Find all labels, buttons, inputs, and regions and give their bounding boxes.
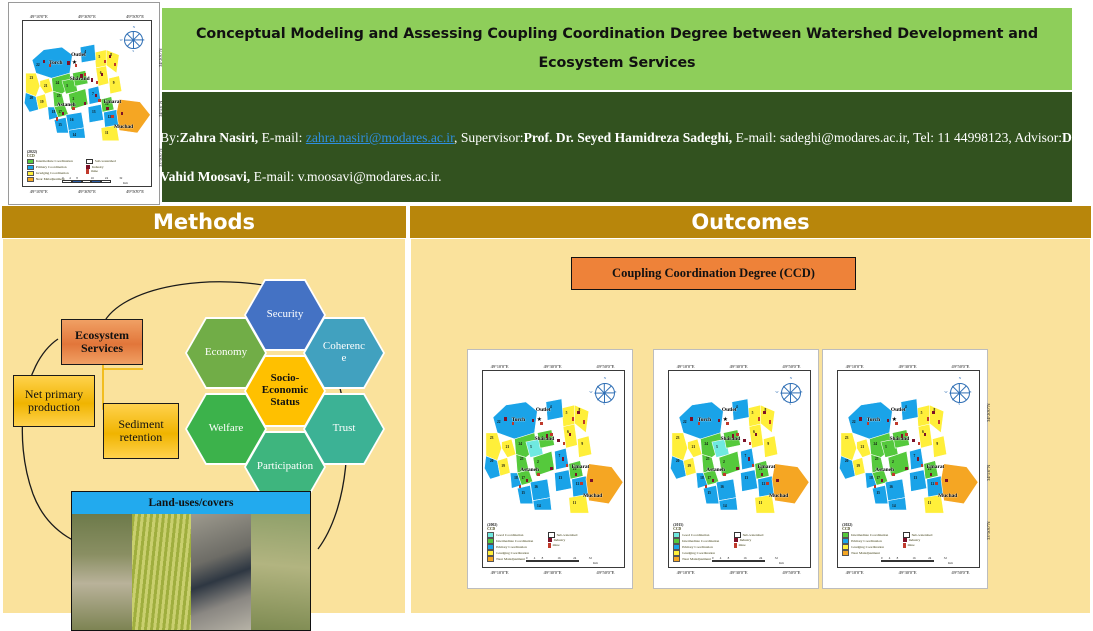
mine-point: [921, 464, 923, 467]
map-frame: 2223201921242518173127654891013161514121…: [22, 20, 152, 187]
legend-row: Grudging Coordination: [27, 171, 73, 176]
lon-tick-bottom: 49°50'0"E: [782, 570, 800, 575]
legend-row: Industry: [903, 538, 933, 542]
sub-watershed-number: 19: [856, 464, 860, 468]
lon-tick-bottom: 49°50'0"E: [596, 570, 614, 575]
box-net-primary-production-label: Net primary production: [25, 388, 83, 415]
scale-tick: 8: [76, 176, 78, 180]
sub-watershed-number: 25: [706, 457, 710, 461]
industry-point: [526, 479, 528, 482]
place-label: Sharand: [889, 436, 909, 442]
industry-point: [575, 473, 577, 476]
mine-point: [512, 422, 514, 425]
mine-point: [49, 64, 51, 67]
sub-watershed-number: 23: [30, 76, 34, 80]
scale-tick: 16: [912, 556, 915, 560]
lon-tick-bottom: 49°10'0"E: [491, 570, 509, 575]
mine-point: [895, 422, 897, 425]
lon-tick-top: 49°50'0"E: [596, 364, 614, 369]
sub-watershed-number: 11: [759, 501, 762, 505]
mine-icon: [548, 543, 551, 548]
ccd-box[interactable]: Coupling Coordination Degree (CCD): [571, 257, 856, 290]
legend-swatch: [842, 538, 849, 543]
sub-watershed-icon: [548, 532, 555, 537]
industry-point: [43, 60, 45, 63]
industry-point: [881, 479, 883, 482]
sub-watershed-number: 15: [58, 123, 62, 127]
scale-tick: 4: [69, 176, 71, 180]
sub-watershed-number: 12: [762, 482, 766, 486]
scale-tick: 16: [743, 556, 746, 560]
lon-tick-bottom: 49°30'0"E: [543, 570, 561, 575]
mine-point: [705, 485, 707, 488]
sub-watershed-number: 5: [99, 55, 101, 59]
location-map: 49°10'0"E49°10'0"E49°30'0"E49°30'0"E49°5…: [8, 2, 160, 205]
industry-point: [887, 419, 889, 422]
sub-watershed-number: 24: [873, 442, 877, 446]
sub-watershed-number: 20: [490, 459, 494, 463]
legend-label: Primary Coordination: [496, 545, 527, 549]
by-label: By:: [160, 130, 180, 145]
place-label: Astaneh: [520, 467, 539, 473]
sub-watershed-number: 2: [892, 460, 894, 464]
methods-header: Methods: [2, 206, 406, 238]
place-label: Astaneh: [706, 467, 725, 473]
scale-tick: 32: [119, 176, 122, 180]
supervisor-email: sadeghi@modares.ac.ir,: [780, 130, 910, 145]
mine-point: [752, 464, 754, 467]
sub-watershed-number: 2: [723, 460, 725, 464]
industry-point: [562, 457, 564, 460]
scale-tick: 32: [944, 556, 947, 560]
box-sediment-retention-label: Sediment retention: [118, 418, 163, 445]
map-legend: (2015)CCDGood CoordinationIntermediate C…: [673, 523, 807, 562]
legend-label: Near Maladjustment: [496, 557, 525, 561]
scale-tick: 8: [897, 556, 899, 560]
mine-point: [766, 482, 768, 485]
scale-tick: 0: [62, 176, 64, 180]
box-ecosystem-services-label: Ecosystem Services: [75, 329, 129, 356]
legend-label: Intermediate Coordination: [682, 539, 719, 543]
sub-watershed-number: 18: [700, 476, 704, 480]
industry-point: [924, 433, 926, 436]
sub-watershed-number: 9: [767, 442, 769, 446]
sub-watershed-number: 19: [501, 464, 505, 468]
legend-swatch: [842, 544, 849, 549]
sub-watershed-number: 13: [559, 476, 563, 480]
outcome-map-2015: 49°10'0"E49°10'0"E49°30'0"E49°30'0"E49°5…: [653, 349, 819, 589]
legend-row: Intermediate Coordination: [842, 532, 888, 537]
legend-label: Industry: [909, 538, 921, 542]
industry-point: [67, 61, 69, 64]
legend-label: Primary Coordination: [851, 539, 882, 543]
legend-label: Near Maladjustment: [36, 177, 65, 181]
legend-label: Intermediate Coordination: [36, 159, 73, 163]
industry-point: [917, 457, 919, 460]
sub-watershed-number: 16: [534, 485, 538, 489]
sub-watershed-number: 23: [490, 436, 494, 440]
outcomes-section: Outcomes Coupling Coordination Degree (C…: [410, 206, 1091, 616]
mine-point: [583, 420, 585, 423]
hex-coherence-label: Coherenc e: [323, 341, 365, 365]
outcome-map-2002: 49°10'0"E49°10'0"E49°30'0"E49°30'0"E49°5…: [467, 349, 633, 589]
mine-point: [874, 485, 876, 488]
industry-point: [712, 479, 714, 482]
landuse-caption: Land-uses/covers: [72, 492, 310, 514]
methods-body: Ecosystem Services Net primary productio…: [2, 238, 406, 614]
legend-swatch: [842, 550, 849, 555]
legend-swatch: [673, 538, 680, 543]
legend-label: mine: [908, 543, 915, 547]
industry-point: [80, 74, 82, 77]
lat-tick: 34°20'0"N: [158, 48, 163, 66]
industry-point: [743, 439, 745, 442]
sub-watershed-number: 25: [520, 457, 524, 461]
mine-point: [938, 420, 940, 423]
place-label: Emarat: [572, 464, 590, 470]
sub-watershed-number: 25: [875, 457, 879, 461]
mine-point: [749, 442, 751, 445]
scale-tick: 32: [775, 556, 778, 560]
legend-label: Near Maladjustment: [851, 551, 880, 555]
legend-swatch: [842, 532, 849, 537]
scale-tick: 16: [91, 176, 94, 180]
place-label: Sharand: [720, 436, 740, 442]
sub-watershed-number: 14: [892, 504, 896, 508]
legend-row: Industry: [548, 538, 578, 542]
tel-label: Tel:: [913, 130, 934, 145]
hex-participation-label: Participation: [257, 461, 313, 473]
legend-row: mine: [734, 543, 764, 548]
sub-watershed-number: 21: [506, 445, 510, 449]
lon-tick-top: 49°10'0"E: [491, 364, 509, 369]
sub-watershed-number: 20: [845, 459, 849, 463]
legend-row: mine: [86, 169, 116, 174]
industry-point: [121, 112, 123, 115]
sub-watershed-number: 16: [889, 485, 893, 489]
scale-bar: 048162432Km: [881, 560, 935, 562]
sub-watershed-number: 22: [852, 420, 856, 424]
industry-point: [901, 434, 903, 437]
sub-watershed-number: 19: [40, 100, 44, 104]
sub-watershed-number: 5: [752, 411, 754, 415]
legend-swatch: [487, 556, 494, 561]
box-net-primary-production[interactable]: Net primary production: [13, 375, 95, 427]
legend-label: Grudging Coordination: [682, 551, 715, 555]
landuse-photo-cropland: [132, 514, 192, 630]
hex-welfare-label: Welfare: [209, 423, 244, 435]
place-label: Muchad: [114, 124, 133, 130]
legend-title: CCD: [673, 527, 807, 531]
sub-watershed-number: 18: [52, 110, 56, 114]
industry-point: [577, 411, 579, 414]
legend-label: mine: [91, 169, 98, 173]
legend-label: Industry: [92, 165, 104, 169]
outcome-map-2022: 49°10'0"E49°10'0"E49°30'0"E49°30'0"E49°5…: [822, 349, 988, 589]
advisor-label: Advisor:: [1014, 130, 1062, 145]
mine-point: [758, 417, 760, 420]
poster-canvas: Conceptual Modeling and Assessing Coupli…: [0, 0, 1093, 618]
scale-tick: 8: [728, 556, 730, 560]
place-label: Outlet: [891, 407, 906, 413]
lon-tick-top: 49°30'0"E: [729, 364, 747, 369]
sub-watershed-icon: [86, 159, 93, 164]
landuse-photo-strip: [72, 514, 310, 630]
supervisor-email-label: E-mail:: [736, 130, 777, 145]
mine-point: [111, 115, 113, 118]
sub-watershed-number: 16: [70, 118, 74, 122]
mine-icon: [86, 169, 89, 174]
advisor-email-label: E-mail:: [254, 169, 295, 184]
box-ecosystem-services[interactable]: Ecosystem Services: [61, 319, 143, 365]
map-legend: (2022)CCDIntermediate CoordinationPrimar…: [27, 150, 149, 183]
sub-watershed-number: 5: [566, 411, 568, 415]
legend-row: Sub-watershed: [86, 159, 116, 164]
legend-label: mine: [739, 543, 746, 547]
mine-point: [918, 442, 920, 445]
industry-point: [101, 73, 103, 76]
sub-watershed-number: 11: [105, 131, 108, 135]
mine-point: [935, 482, 937, 485]
place-label: Outlet: [722, 407, 737, 413]
mine-point: [75, 64, 77, 67]
legend-label: Sub-watershed: [557, 533, 578, 537]
sub-watershed-number: 21: [692, 445, 696, 449]
lat-tick: 33°50'0"N: [986, 522, 991, 540]
tel-value: 11 44998123,: [937, 130, 1011, 145]
mine-point: [550, 433, 552, 436]
hex-economy-label: Economy: [205, 347, 247, 359]
industry-point: [84, 102, 86, 105]
mine-point: [892, 473, 894, 476]
lon-tick-top: 49°50'0"E: [126, 14, 144, 19]
lon-tick-bottom: 49°50'0"E: [951, 570, 969, 575]
mine-point: [56, 117, 58, 120]
scale-tick: 0: [712, 556, 714, 560]
legend-title: CCD: [487, 527, 621, 531]
lon-tick-bottom: 49°30'0"E: [78, 189, 96, 194]
sub-watershed-number: 7: [559, 454, 561, 458]
sub-watershed-number: 16: [720, 485, 724, 489]
scale-unit: Km: [123, 181, 128, 185]
sub-watershed-icon: [734, 532, 741, 537]
sub-watershed-number: 20: [676, 459, 680, 463]
legend-row: Primary Coordination: [842, 538, 888, 543]
industry-icon: [903, 538, 907, 542]
scale-bar: 048162432Km: [526, 560, 580, 562]
legend-label: mine: [553, 543, 560, 547]
mine-point: [104, 60, 106, 63]
lat-tick: 34°5'0"N: [158, 101, 163, 117]
sub-watershed-number: 24: [56, 81, 60, 85]
legend-row: Intermediate Coordination: [673, 538, 719, 543]
legend-row: Sub-watershed: [903, 532, 933, 537]
scale-bar: 048162432Km: [62, 180, 111, 182]
legend-title: CCD: [842, 527, 976, 531]
sub-watershed-number: 2: [537, 460, 539, 464]
sub-watershed-number: 25: [57, 94, 61, 98]
compass-rose-icon: NESW: [950, 383, 970, 403]
sub-watershed-number: 22: [497, 420, 501, 424]
sub-watershed-number: 23: [845, 436, 849, 440]
legend-row: Good Coordination: [673, 532, 719, 537]
sub-watershed-number: 13: [914, 476, 918, 480]
legend-label: Intermediate Coordination: [851, 533, 888, 537]
place-label: Muchad: [769, 493, 788, 499]
sub-watershed-number: 20: [30, 96, 34, 100]
sub-watershed-number: 13: [745, 476, 749, 480]
legend-swatch: [487, 550, 494, 555]
author-email-link[interactable]: zahra.nasiri@modares.ac.ir: [306, 130, 454, 145]
place-label: Outlet: [71, 52, 86, 58]
lon-tick-top: 49°30'0"E: [78, 14, 96, 19]
lon-tick-top: 49°30'0"E: [898, 364, 916, 369]
lon-tick-bottom: 49°50'0"E: [126, 189, 144, 194]
lon-tick-bottom: 49°10'0"E: [677, 570, 695, 575]
outcomes-header: Outcomes: [410, 206, 1091, 238]
scale-tick: 0: [881, 556, 883, 560]
sub-watershed-number: 19: [687, 464, 691, 468]
legend-swatch: [27, 165, 34, 170]
industry-point: [718, 419, 720, 422]
industry-icon: [548, 538, 552, 542]
scale-tick: 24: [105, 176, 108, 180]
author-email-comma: ,: [454, 130, 457, 145]
sub-watershed-number: 2: [73, 97, 75, 101]
legend-row: Primary Coordination: [673, 544, 719, 549]
supervisor-name: Prof. Dr. Seyed Hamidreza Sadeghi,: [524, 130, 733, 145]
industry-point: [109, 55, 111, 58]
legend-swatch: [673, 532, 680, 537]
sub-watershed-icon: [903, 532, 910, 537]
legend-label: Primary Coordination: [36, 165, 67, 169]
scale-tick: 24: [928, 556, 931, 560]
mine-point: [580, 482, 582, 485]
sub-watershed-number: 7: [914, 454, 916, 458]
industry-point: [546, 434, 548, 437]
sub-watershed-number: 3: [716, 445, 718, 449]
legend-label: Good Coordination: [496, 533, 523, 537]
lat-tick: 33°50'0"N: [158, 148, 163, 166]
authors-text: By:Zahra Nasiri, E-mail: zahra.nasiri@mo…: [152, 118, 1088, 197]
industry-point: [748, 457, 750, 460]
industry-point: [95, 94, 97, 97]
legend-swatch: [27, 159, 34, 164]
industry-point: [761, 473, 763, 476]
mine-point: [72, 107, 74, 110]
sub-watershed-number: 17: [707, 476, 711, 480]
author-email-label: E-mail:: [262, 130, 303, 145]
legend-swatch: [27, 177, 34, 182]
sub-watershed-number: 18: [514, 476, 518, 480]
mine-point: [96, 81, 98, 84]
mine-point: [726, 422, 728, 425]
industry-point: [62, 112, 64, 115]
sub-watershed-number: 21: [44, 84, 48, 88]
legend-row: Sub-watershed: [734, 532, 764, 537]
industry-point: [755, 433, 757, 436]
map-frame: 2223201921242518173127654891013161514121…: [837, 370, 980, 568]
scale-tick: 0: [526, 556, 528, 560]
map-frame: 2223201921242518173127654891013161514121…: [668, 370, 811, 568]
map-frame: 2223201921242518173127654891013161514121…: [482, 370, 625, 568]
lat-tick: 34°20'0"N: [986, 403, 991, 421]
legend-label: Grudging Coordination: [36, 171, 69, 175]
sub-watershed-number: 18: [869, 476, 873, 480]
legend-label: Sub-watershed: [912, 533, 933, 537]
outcomes-header-label: Outcomes: [691, 210, 809, 234]
legend-label: Grudging Coordination: [496, 551, 529, 555]
legend-row: Intermediate Coordination: [27, 159, 73, 164]
scale-unit: Km: [779, 561, 784, 565]
mine-icon: [903, 543, 906, 548]
sub-watershed-number: 21: [861, 445, 865, 449]
lon-tick-bottom: 49°30'0"E: [729, 570, 747, 575]
industry-point: [532, 419, 534, 422]
legend-row: Primary Coordination: [487, 544, 533, 549]
authors-banner: By:Zahra Nasiri, E-mail: zahra.nasiri@mo…: [162, 92, 1072, 202]
place-label: Muchad: [583, 493, 602, 499]
legend-label: Sub-watershed: [95, 159, 116, 163]
sub-watershed-number: 14: [73, 133, 77, 137]
industry-point: [776, 479, 778, 482]
place-label: Astaneh: [875, 467, 894, 473]
legend-row: Sub-watershed: [548, 532, 578, 537]
legend-row: Grudging Coordination: [842, 544, 888, 549]
industry-icon: [734, 538, 738, 542]
legend-swatch: [487, 532, 494, 537]
sub-watershed-number: 7: [745, 454, 747, 458]
sub-watershed-number: 5: [921, 411, 923, 415]
sub-watershed-number: 13: [92, 110, 96, 114]
industry-point: [550, 467, 552, 470]
legend-column-symbols: Sub-watershedIndustrymine: [903, 532, 933, 556]
sub-watershed-number: 12: [931, 482, 935, 486]
legend-swatch: [487, 544, 494, 549]
scale-tick: 4: [534, 556, 536, 560]
place-label: Muchad: [938, 493, 957, 499]
lon-tick-bottom: 49°10'0"E: [30, 189, 48, 194]
lon-tick-top: 49°10'0"E: [677, 364, 695, 369]
industry-point: [590, 479, 592, 482]
box-sediment-retention[interactable]: Sediment retention: [103, 403, 179, 459]
lon-tick-top: 49°50'0"E: [951, 364, 969, 369]
landuse-photo-windfarm: [251, 514, 311, 630]
compass-rose-icon: NESW: [781, 383, 801, 403]
sub-watershed-number: 24: [518, 442, 522, 446]
landuse-photo-mine: [191, 514, 251, 630]
page-title: Conceptual Modeling and Assessing Coupli…: [162, 20, 1072, 79]
place-label: Sharand: [534, 436, 554, 442]
place-label: Emarat: [927, 464, 945, 470]
legend-label: Primary Coordination: [682, 545, 713, 549]
mine-point: [927, 417, 929, 420]
industry-point: [763, 411, 765, 414]
mine-point: [572, 417, 574, 420]
mine-point: [723, 473, 725, 476]
map-legend: (2022)CCDIntermediate CoordinationPrimar…: [842, 523, 976, 556]
sub-watershed-number: 14: [723, 504, 727, 508]
lon-tick-bottom: 49°30'0"E: [898, 570, 916, 575]
landuse-block[interactable]: Land-uses/covers: [71, 491, 311, 631]
sub-watershed-number: 9: [936, 442, 938, 446]
sub-watershed-number: 15: [521, 491, 525, 495]
lon-tick-top: 49°10'0"E: [846, 364, 864, 369]
industry-point: [91, 78, 93, 81]
mine-point: [84, 73, 86, 76]
sub-watershed-number: 15: [707, 491, 711, 495]
hex-socio-economic-status-label: Socio- Economic Status: [262, 373, 308, 409]
